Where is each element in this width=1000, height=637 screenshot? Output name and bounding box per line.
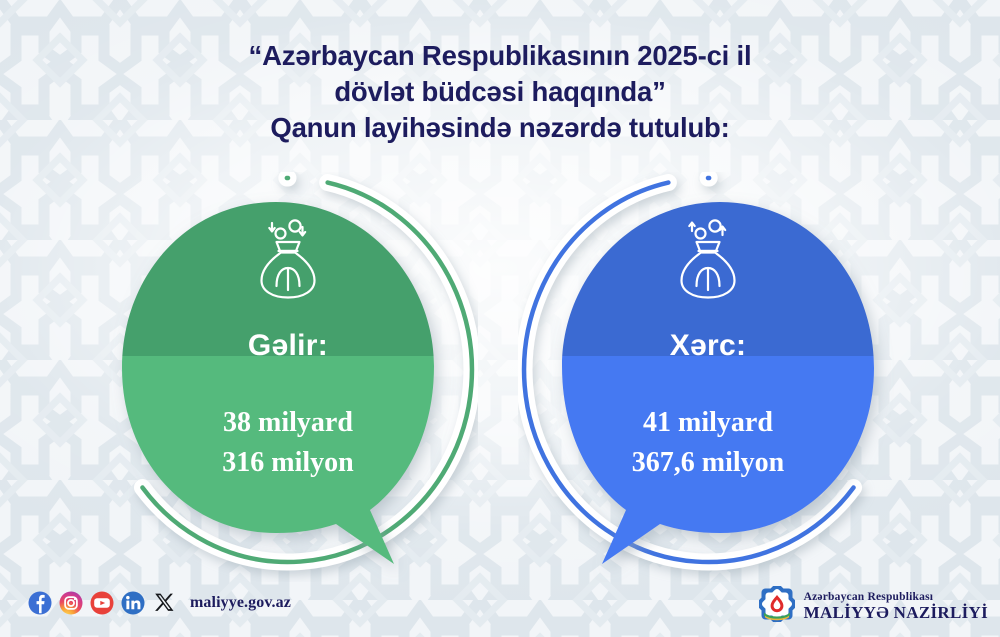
instagram-icon[interactable] (59, 591, 83, 615)
footer: maliyye.gov.az (0, 579, 1000, 637)
title-line-3: Qanun layihəsində nəzərdə tutulub: (0, 110, 1000, 146)
income-bubble: Gəlir: 38 milyard 316 milyon (98, 172, 478, 582)
ministry-name: Azərbaycan Respublikası MALİYYƏ NAZİRLİY… (804, 591, 988, 622)
income-bubble-shape (98, 172, 478, 582)
expense-bubble-shape (518, 172, 898, 582)
ministry-name-line-1: Azərbaycan Respublikası (804, 591, 988, 603)
page-title: “Azərbaycan Respublikasının 2025-ci il d… (0, 38, 1000, 146)
infographic-page: “Azərbaycan Respublikasının 2025-ci il d… (0, 0, 1000, 637)
title-line-2: dövlət büdcəsi haqqında” (0, 74, 1000, 110)
expense-bubble: Xərc: 41 milyard 367,6 milyon (518, 172, 898, 582)
facebook-icon[interactable] (28, 591, 52, 615)
x-icon[interactable] (152, 591, 176, 615)
ministry-name-line-2: MALİYYƏ NAZİRLİYİ (804, 604, 988, 622)
social-links: maliyye.gov.az (28, 591, 291, 615)
linkedin-icon[interactable] (121, 591, 145, 615)
youtube-icon[interactable] (90, 591, 114, 615)
website-url[interactable]: maliyye.gov.az (190, 594, 291, 612)
ministry-logo: Azərbaycan Respublikası MALİYYƏ NAZİRLİY… (759, 586, 988, 627)
title-line-1: “Azərbaycan Respublikasının 2025-ci il (0, 38, 1000, 74)
azerbaijan-emblem-icon (759, 586, 795, 627)
